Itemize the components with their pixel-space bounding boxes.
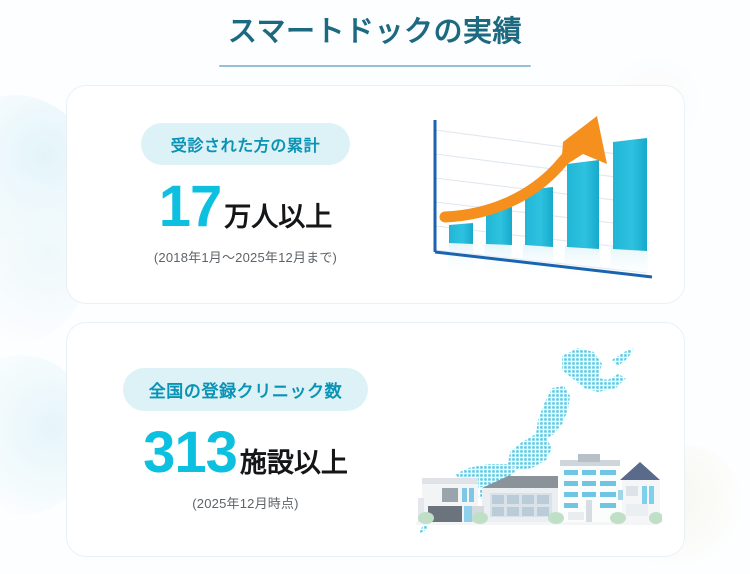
building-hospital — [560, 454, 620, 522]
japan-map-clinics-icon — [412, 338, 662, 548]
clinic-buildings-illustration — [416, 454, 662, 525]
chart-bars — [449, 138, 647, 251]
title-underline-divider — [219, 65, 531, 67]
stat-figure: 313 施設以上 — [95, 426, 397, 479]
stat-figure-number: 313 — [143, 426, 237, 479]
stat-figure-number: 17 — [159, 180, 222, 233]
page-header: スマートドックの実績 — [0, 0, 750, 67]
growth-bar-chart-icon — [411, 102, 659, 287]
stat-card-badge: 全国の登録クリニック数 — [123, 368, 369, 411]
stat-figure-unit: 施設以上 — [240, 450, 348, 477]
stat-card-registered-clinics: 全国の登録クリニック数 313 施設以上 (2025年12月時点) — [66, 322, 685, 557]
stat-card-list: 受診された方の累計 17 万人以上 (2018年1月〜2025年12月まで) — [0, 85, 750, 557]
stat-card-note: (2025年12月時点) — [95, 493, 397, 512]
stat-card-cumulative-patients: 受診された方の累計 17 万人以上 (2018年1月〜2025年12月まで) — [66, 85, 685, 304]
stat-card-illustration — [397, 102, 684, 287]
stat-card-text-block: 受診された方の累計 17 万人以上 (2018年1月〜2025年12月まで) — [67, 123, 397, 266]
stat-figure-unit: 万人以上 — [224, 204, 332, 231]
stat-card-badge: 受診された方の累計 — [141, 123, 350, 165]
stat-figure: 17 万人以上 — [95, 180, 397, 233]
stat-card-illustration — [397, 332, 684, 548]
page-title: スマートドックの実績 — [0, 14, 750, 50]
stat-card-note: (2018年1月〜2025年12月まで) — [95, 247, 397, 266]
stat-card-text-block: 全国の登録クリニック数 313 施設以上 (2025年12月時点) — [67, 368, 397, 512]
